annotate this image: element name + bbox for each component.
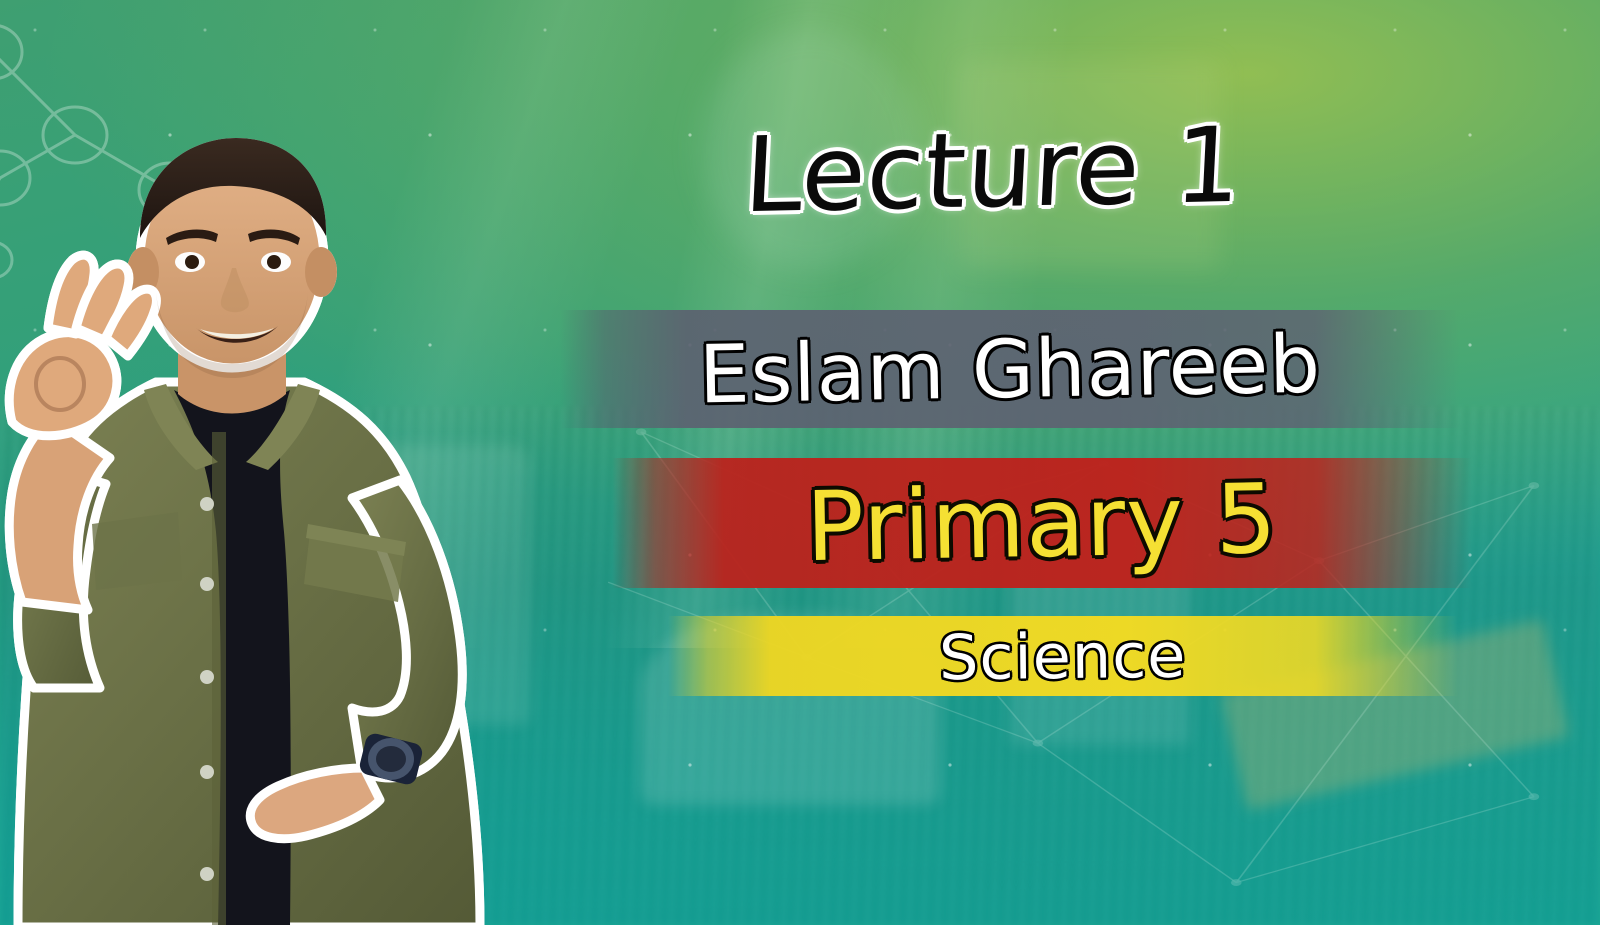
grade-level-text: Primary 5 bbox=[805, 463, 1278, 583]
presenter-cutout-photo bbox=[0, 132, 620, 925]
subject-text: Science bbox=[939, 618, 1187, 694]
instructor-name-bar: Eslam Ghareeb bbox=[560, 310, 1460, 428]
lecture-title-text: Lecture 1 bbox=[742, 113, 1244, 227]
lecture-thumbnail: Lecture 1 Eslam Ghareeb Primary 5 Scienc… bbox=[0, 0, 1600, 925]
presenter-illustration bbox=[0, 132, 620, 925]
page-title: Lecture 1 bbox=[741, 98, 1348, 241]
grade-level-bar: Primary 5 bbox=[612, 458, 1472, 588]
instructor-name-text: Eslam Ghareeb bbox=[698, 317, 1321, 421]
subject-bar: Science bbox=[668, 616, 1458, 696]
